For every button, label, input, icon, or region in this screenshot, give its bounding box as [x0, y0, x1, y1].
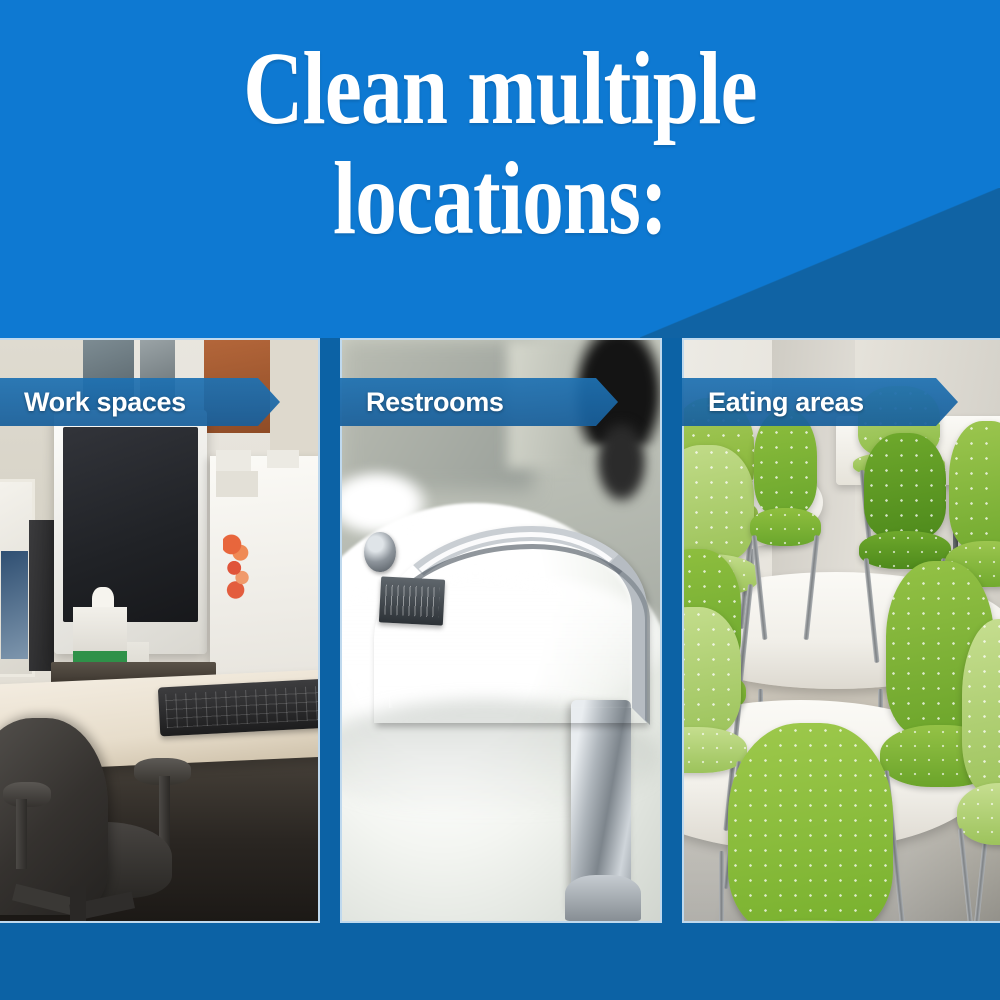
monitor-screen	[63, 427, 197, 622]
page-title: Clean multiple locations:	[100, 34, 900, 254]
keyboard-keys	[165, 686, 318, 729]
chair-back-6-backrest	[949, 421, 1000, 549]
chair-right-backrest	[962, 619, 1000, 793]
file-label	[216, 471, 257, 497]
chair-mid-2	[684, 607, 741, 735]
chair-armrest-left-post	[16, 799, 27, 869]
label-banner-eating-areas: Eating areas	[682, 378, 958, 426]
label-text-eating-areas: Eating areas	[682, 387, 864, 418]
faucet-spout	[374, 526, 647, 724]
faucet-sensor-tip	[364, 532, 396, 573]
office-wall-right	[270, 340, 318, 456]
label-banner-restrooms: Restrooms	[340, 378, 618, 426]
label-text-work-spaces: Work spaces	[0, 387, 186, 418]
faucet-aerator-ridges	[384, 585, 439, 618]
work-spaces-photo	[0, 340, 318, 921]
computer-tower	[29, 520, 54, 671]
eating-areas-photo	[684, 340, 1000, 921]
header-band: Clean multiple locations:	[0, 0, 1000, 338]
chair-back-5	[864, 433, 946, 538]
label-banner-work-spaces: Work spaces	[0, 378, 280, 426]
chair-back-6	[949, 421, 1000, 549]
chair-front-seat	[718, 920, 902, 921]
chair-mid-2-backrest	[684, 607, 741, 735]
faucet-base	[565, 875, 641, 921]
label-text-restrooms: Restrooms	[340, 387, 503, 418]
chair-front-backrest	[728, 723, 892, 921]
file-tab-right	[267, 450, 299, 467]
chair-front	[728, 723, 892, 921]
keyboard	[158, 678, 318, 736]
chair-back-5-backrest	[864, 433, 946, 538]
orange-sticker	[223, 532, 252, 602]
restrooms-photo	[342, 340, 660, 921]
chair-back-2-backrest	[684, 445, 754, 561]
faucet-aerator	[379, 577, 445, 627]
chair-back-3-seat	[750, 508, 821, 546]
chair-gas-cylinder	[70, 886, 86, 921]
background-dark-fixture-2	[596, 421, 647, 502]
picture-frame-image	[1, 551, 28, 658]
chair-back-2	[684, 445, 754, 561]
chair-right	[962, 619, 1000, 793]
